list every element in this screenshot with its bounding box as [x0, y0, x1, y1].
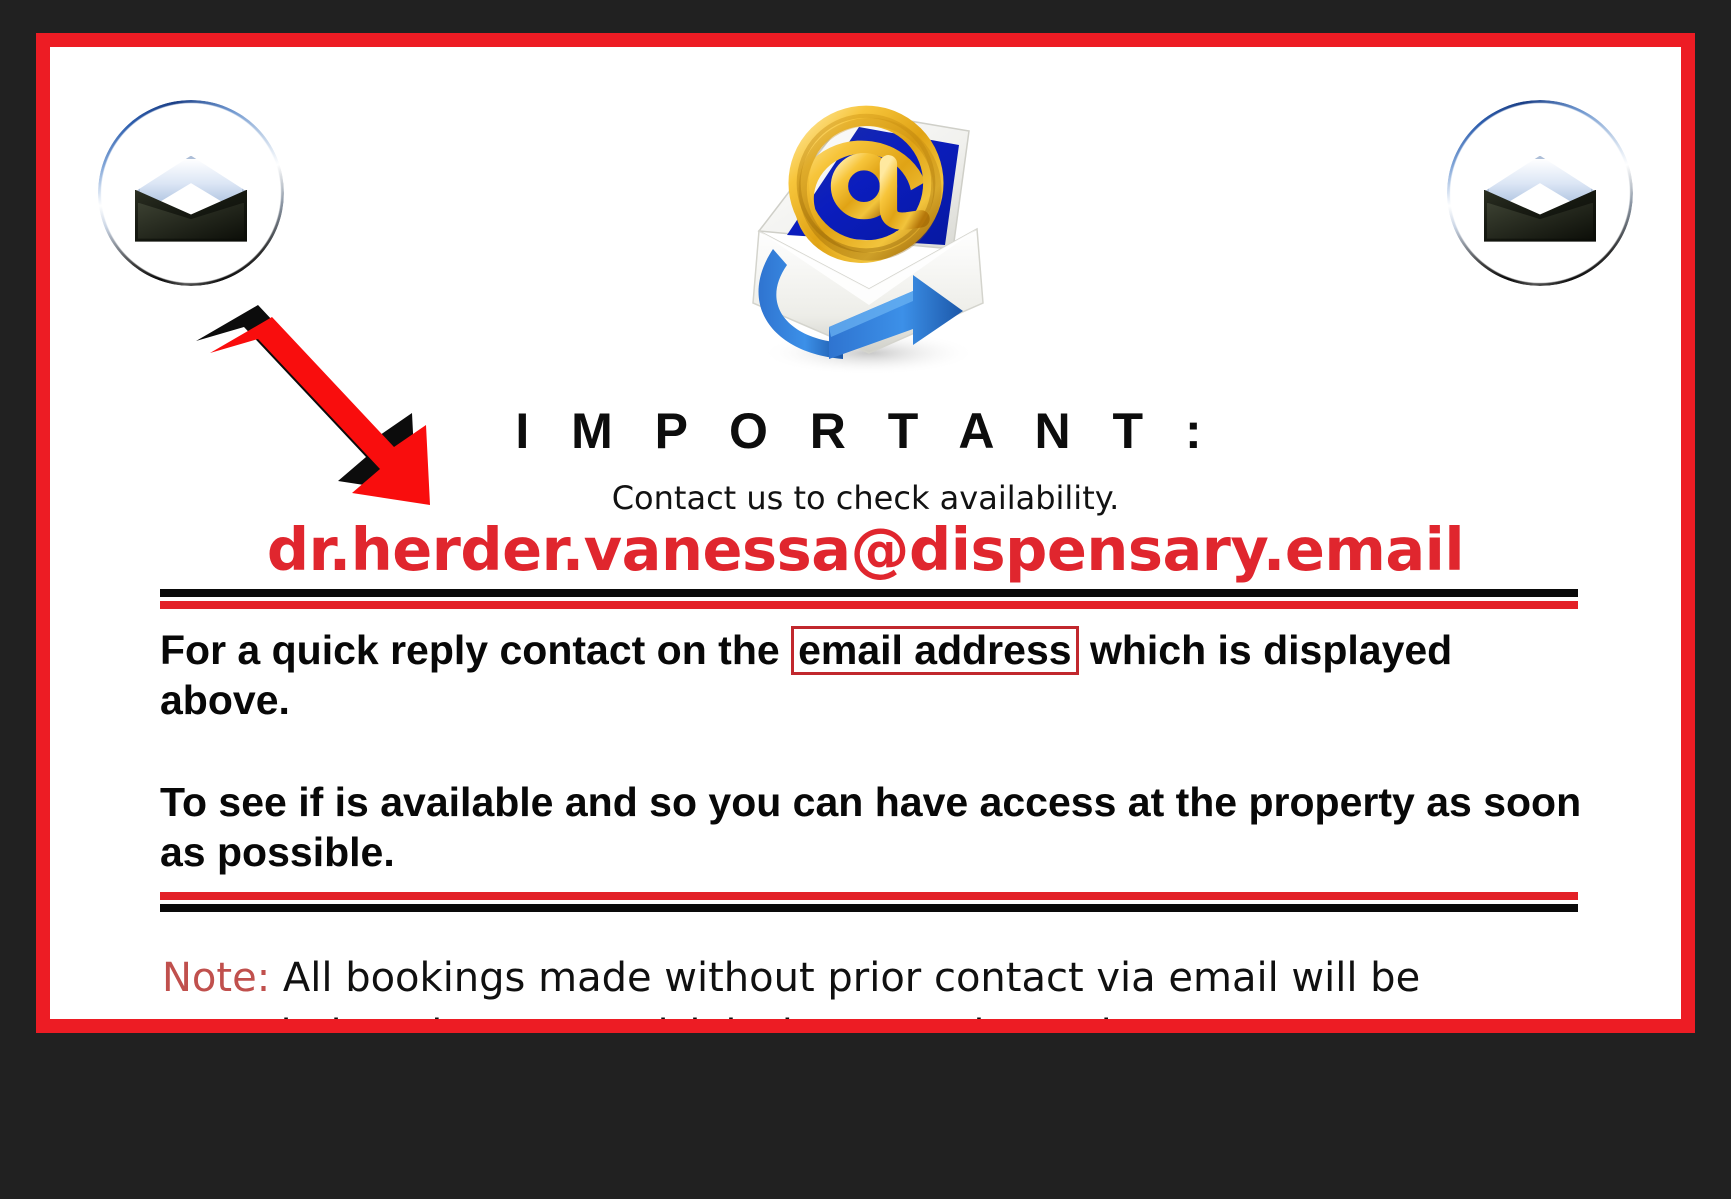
envelope-body — [135, 190, 247, 242]
note-text: All bookings made without prior contact … — [162, 955, 1420, 1019]
divider-bar-black — [160, 904, 1578, 912]
envelope-body — [1484, 190, 1596, 242]
page-title: I M P O R T A N T : — [50, 402, 1681, 460]
notice-card: I M P O R T A N T : Contact us to check … — [50, 47, 1681, 1019]
envelope-circle-icon-left — [98, 100, 284, 286]
open-envelope-glyph — [135, 156, 247, 242]
at-symbol-envelope-icon — [701, 53, 1031, 383]
open-envelope-glyph — [1484, 156, 1596, 242]
red-down-right-arrow-icon — [180, 279, 460, 509]
subtitle-text: Contact us to check availability. — [50, 479, 1681, 517]
email-address-highlight: email address — [791, 626, 1079, 675]
instruction-paragraph-2: To see if is available and so you can ha… — [160, 777, 1590, 878]
divider-bar-black — [160, 589, 1578, 597]
contact-email[interactable]: dr.herder.vanessa@dispensary.email — [50, 515, 1681, 584]
envelope-circle-icon-right — [1447, 100, 1633, 286]
instruction-paragraph-1: For a quick reply contact on the email a… — [160, 625, 1590, 726]
screenshot-stage: I M P O R T A N T : Contact us to check … — [0, 0, 1731, 1199]
divider-bottom — [160, 892, 1578, 912]
red-frame-border: I M P O R T A N T : Contact us to check … — [36, 33, 1695, 1033]
para1-text-before: For a quick reply contact on the — [160, 627, 791, 673]
divider-bar-red — [160, 892, 1578, 900]
divider-bar-red — [160, 601, 1578, 609]
note-paragraph: Note: All bookings made without prior co… — [162, 950, 1582, 1019]
note-label: Note: — [162, 955, 270, 1001]
divider-top — [160, 589, 1578, 609]
